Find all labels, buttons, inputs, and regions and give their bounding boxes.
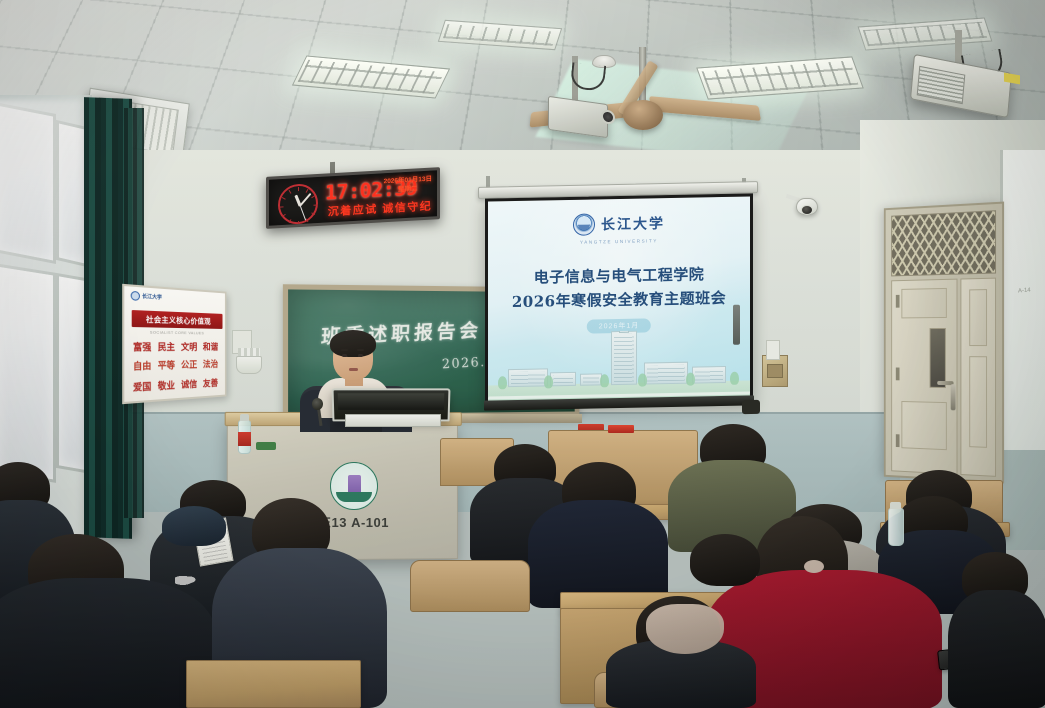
bottle-cap xyxy=(890,502,901,509)
illustration-tree xyxy=(544,375,553,388)
door-leaf-right[interactable] xyxy=(960,278,996,477)
wall-marking: A-14 xyxy=(1018,288,1031,295)
student-jacket xyxy=(948,590,1045,708)
presenter-eye xyxy=(358,354,363,357)
student-jacket xyxy=(0,578,215,708)
illustration-building xyxy=(644,362,688,385)
poster-value-word: 友善 xyxy=(200,376,221,390)
desk-red-item xyxy=(608,425,634,433)
ceiling-fan-hub xyxy=(623,100,663,130)
slide-campus-illustration xyxy=(488,328,750,403)
poster-subtitle-text: SOCIALIST CORE VALUES xyxy=(124,329,225,336)
seal-outer-ring xyxy=(330,462,378,510)
presenter-mouth xyxy=(349,368,358,371)
presenter-hair xyxy=(330,330,376,357)
bottle-label xyxy=(238,432,251,446)
illustration-building xyxy=(508,368,548,387)
poster-value-word: 自由 xyxy=(130,358,155,372)
camera-lens-icon xyxy=(801,205,813,215)
door-vision-window xyxy=(930,328,946,388)
monitor-screen xyxy=(338,393,445,410)
poster-banner-text: 社会主义核心价值观 xyxy=(132,310,223,329)
led-clock-board: 17:02:39 2026年01月13日 星期二 沉着应试 诚信守纪 xyxy=(266,167,440,229)
slide-university-name: 长江大学 xyxy=(601,213,665,234)
student-cap xyxy=(162,506,226,546)
illustration-tree xyxy=(638,373,647,386)
poster-value-word: 敬业 xyxy=(155,378,178,392)
clock-second-hand xyxy=(299,205,306,220)
illustration-building xyxy=(611,331,637,385)
classroom-door[interactable] xyxy=(884,202,1004,484)
water-bottle[interactable] xyxy=(888,508,904,546)
poster-value-word: 公正 xyxy=(178,358,200,371)
poster-value-word: 法治 xyxy=(200,357,221,370)
poster-value-word: 爱国 xyxy=(130,379,155,394)
university-emblem-icon xyxy=(131,291,140,301)
door-panel xyxy=(969,356,987,448)
core-values-poster: 长江大学 社会主义核心价值观 SOCIALIST CORE VALUES 富强 … xyxy=(122,284,226,404)
poster-values-row: 自由 平等 公正 法治 xyxy=(130,357,221,373)
poster-value-word: 和谐 xyxy=(200,340,221,353)
wall-speaker xyxy=(766,340,780,360)
illustration-tree xyxy=(686,373,695,386)
poster-values-row: 爱国 敬业 诚信 友善 xyxy=(130,376,221,394)
desk-surface xyxy=(186,660,361,708)
door-leaf-left[interactable] xyxy=(891,279,957,475)
poster-value-word: 文明 xyxy=(178,340,200,353)
student-hair xyxy=(690,534,760,586)
poster-value-word: 诚信 xyxy=(178,377,200,391)
illustration-tree xyxy=(498,376,507,389)
microphone-icon[interactable] xyxy=(312,398,323,410)
chair-back xyxy=(410,560,530,612)
screen-pull-handle[interactable] xyxy=(733,305,740,345)
clock-minute-hand xyxy=(299,193,311,207)
bottle-cap xyxy=(240,414,249,421)
poster-org-text: 长江大学 xyxy=(142,293,162,301)
led-date-block: 2026年01月13日 星期二 xyxy=(384,175,432,196)
paper-towel-dispenser[interactable] xyxy=(236,356,262,374)
projection-screen: 长江大学 YANGTZE UNIVERSITY 电子信息与电气工程学院 2026… xyxy=(485,193,753,406)
monitor-base xyxy=(345,414,441,427)
door-lock-plate[interactable] xyxy=(951,384,956,410)
poster-university-logo: 长江大学 xyxy=(131,291,162,302)
analog-clock-icon xyxy=(278,183,318,225)
presenter-eye xyxy=(342,354,347,357)
brand-logo-icon xyxy=(175,572,201,586)
door-hinge xyxy=(896,368,900,381)
illustration-building xyxy=(580,373,602,385)
screen-weight xyxy=(742,400,760,414)
illustration-tree xyxy=(730,372,739,385)
classroom-photo: 17:02:39 2026年01月13日 星期二 沉着应试 诚信守纪 长江大学 … xyxy=(0,0,1045,708)
desk-object[interactable] xyxy=(256,442,276,450)
window-pane xyxy=(1000,150,1045,450)
illustration-building xyxy=(692,366,726,384)
hair-tie xyxy=(804,560,824,573)
poster-value-word: 富强 xyxy=(130,340,155,354)
beige-scarf xyxy=(646,604,724,654)
door-panel xyxy=(969,289,987,346)
door-panel xyxy=(901,401,946,450)
poster-values-row: 富强 民主 文明 和谐 xyxy=(130,340,221,354)
presenter-eyebrow xyxy=(341,349,348,351)
door-hinge xyxy=(896,295,900,308)
paper-dispenser-tabs xyxy=(238,348,260,356)
presenter-eyebrow xyxy=(357,349,364,351)
university-emblem-icon xyxy=(573,213,595,235)
door-panel xyxy=(901,288,946,319)
poster-value-word: 民主 xyxy=(155,340,178,353)
illustration-tree xyxy=(600,374,609,387)
poster-value-word: 平等 xyxy=(155,358,178,372)
illustration-building xyxy=(550,372,576,386)
door-hinge xyxy=(896,434,900,447)
door-transom-grille xyxy=(891,210,996,276)
